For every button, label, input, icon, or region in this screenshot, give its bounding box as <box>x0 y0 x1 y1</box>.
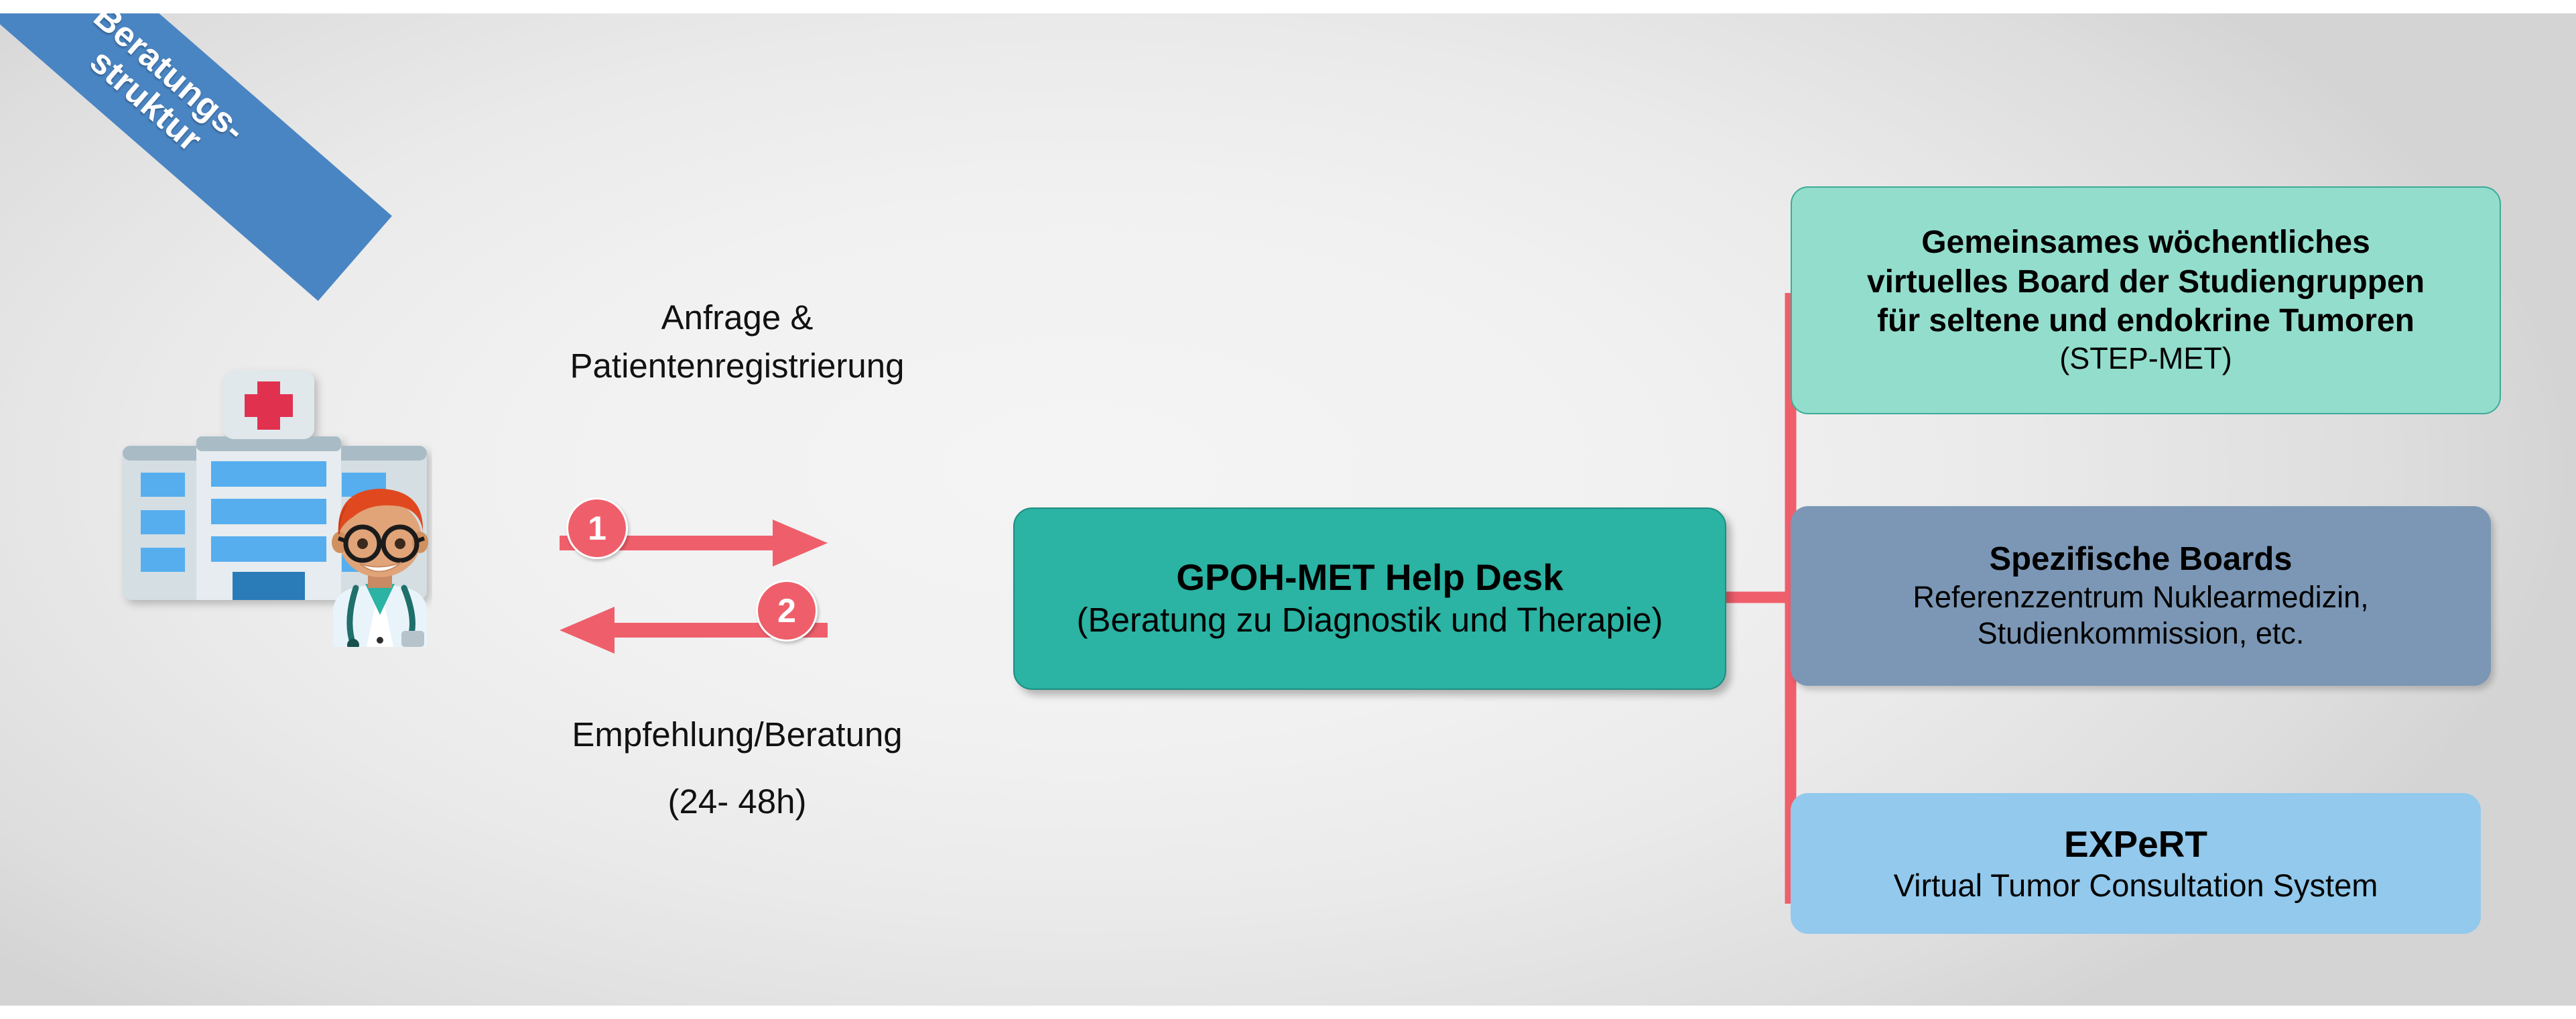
arrow-badge-1: 1 <box>566 497 628 559</box>
corner-ribbon: Beratungs- struktur <box>0 13 392 301</box>
node-step-met-title-line1: Gemeinsames wöchentliches <box>1921 223 2370 262</box>
flow-label-request-line1: Anfrage & <box>469 294 1005 342</box>
flow-label-response-line1: Empfehlung/Beratung <box>469 711 1005 759</box>
node-spezifische-boards-sub-line1: Referenzzentrum Nuklearmedizin, <box>1913 579 2368 616</box>
center-node-subtitle: (Beratung zu Diagnostik und Therapie) <box>1076 600 1663 640</box>
slide-canvas: Beratungs- struktur <box>0 13 2576 1006</box>
node-expert-title: EXPeRT <box>2064 822 2207 866</box>
arrow-badge-2: 2 <box>756 580 818 642</box>
node-spezifische-boards-sub-line2: Studienkommission, etc. <box>1978 615 2305 652</box>
flow-label-response-line2: (24- 48h) <box>469 778 1005 826</box>
center-node-help-desk[interactable]: GPOH-MET Help Desk (Beratung zu Diagnost… <box>1013 507 1726 690</box>
node-step-met-subtitle: (STEP-MET) <box>2059 341 2232 377</box>
node-step-met-title-line3: für seltene und endokrine Tumoren <box>1877 302 2414 341</box>
arrow-badge-2-label: 2 <box>777 591 796 630</box>
flow-label-response: Empfehlung/Beratung (24- 48h) <box>469 711 1005 827</box>
arrow-badge-1-label: 1 <box>588 509 606 548</box>
node-step-met[interactable]: Gemeinsames wöchentliches virtuelles Boa… <box>1791 186 2501 414</box>
node-step-met-title-line2: virtuelles Board der Studiengruppen <box>1867 263 2425 302</box>
node-spezifische-boards-title: Spezifische Boards <box>1989 540 2292 579</box>
node-expert-subtitle: Virtual Tumor Consultation System <box>1894 866 2378 904</box>
center-node-title: GPOH-MET Help Desk <box>1176 557 1563 599</box>
node-spezifische-boards[interactable]: Spezifische Boards Referenzzentrum Nukle… <box>1791 506 2491 686</box>
hospital-building-icon <box>117 352 432 647</box>
flow-label-request-line2: Patientenregistrierung <box>469 342 1005 390</box>
node-expert[interactable]: EXPeRT Virtual Tumor Consultation System <box>1791 793 2481 934</box>
corner-ribbon-text: Beratungs- struktur <box>0 13 252 176</box>
flow-label-request: Anfrage & Patientenregistrierung <box>469 294 1005 391</box>
